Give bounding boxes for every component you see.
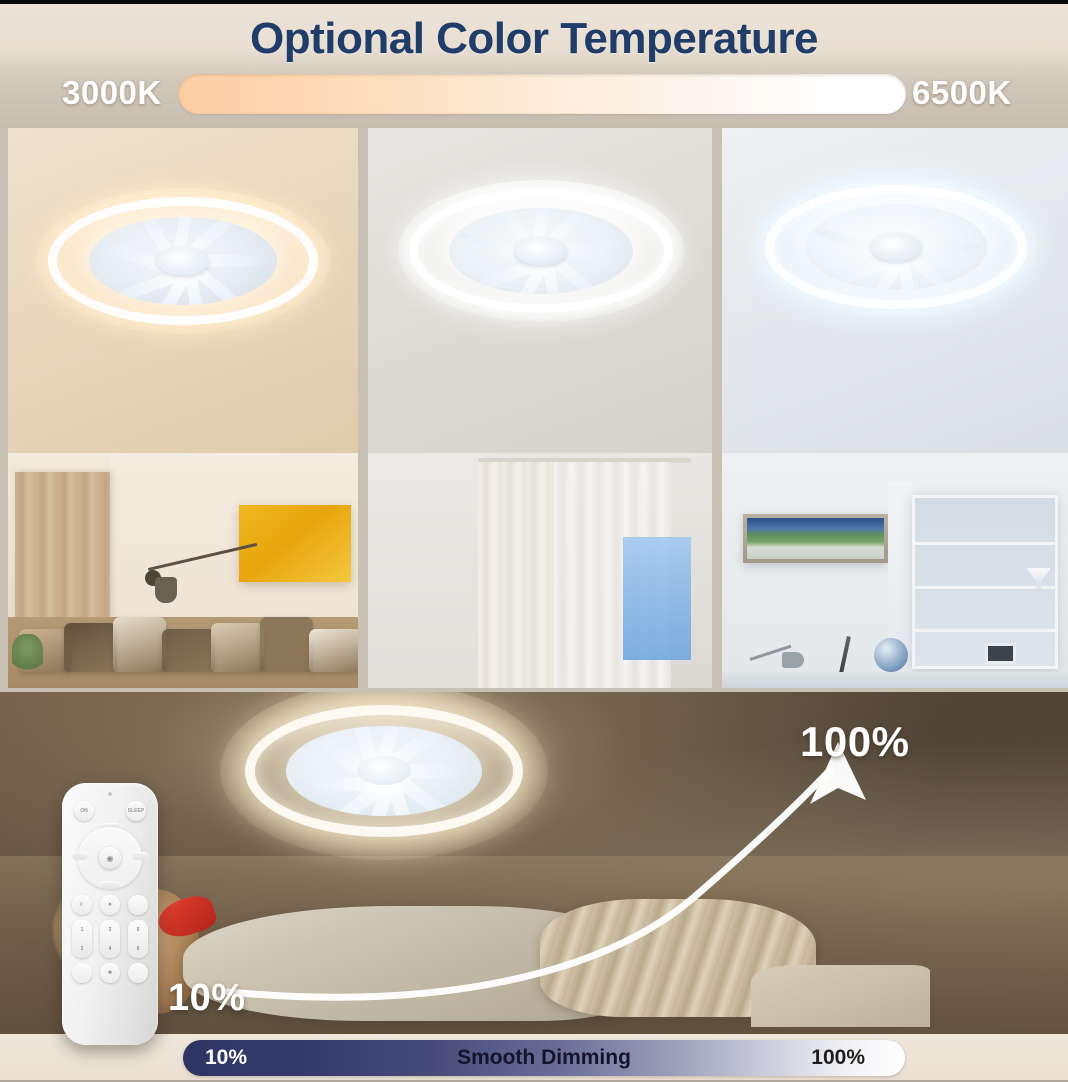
dim-bar-title: Smooth Dimming <box>183 1046 905 1070</box>
remote-off-button[interactable] <box>128 963 148 983</box>
smooth-dimming-bar: 10% Smooth Dimming 100% <box>183 1040 905 1076</box>
product-infographic: Optional Color Temperature 3000K 6500K <box>0 0 1068 1082</box>
remote-number-1: 1 <box>81 927 84 933</box>
remote-sleep-button[interactable]: SLEEP <box>126 801 146 821</box>
dim-low-callout: 10% <box>168 977 246 1020</box>
scene-photo-warm <box>8 128 358 688</box>
remote-timer-button[interactable] <box>72 963 92 983</box>
remote-control[interactable]: ON SLEEP ◉ ☾ ✷ 1 2 3 4 5 6 ✱ <box>62 783 158 1045</box>
scene-photo-cool <box>722 128 1068 688</box>
top-edge-bar <box>0 0 1068 4</box>
remote-fan-button[interactable]: ✷ <box>100 895 120 915</box>
footer-band: 10% Smooth Dimming 100% <box>0 1034 1068 1082</box>
window-daylight <box>623 537 692 659</box>
temp-low-label: 3000K <box>62 74 162 112</box>
header-band: Optional Color Temperature 3000K 6500K <box>0 0 1068 128</box>
remote-power-button[interactable]: ON <box>74 801 94 821</box>
remote-down-button[interactable] <box>100 881 120 889</box>
remote-number-3: 3 <box>109 927 112 933</box>
remote-reverse-button[interactable]: ✱ <box>100 963 120 983</box>
scene-gallery <box>0 128 1068 688</box>
remote-number-4: 4 <box>109 946 112 952</box>
dim-high-callout: 100% <box>800 718 909 766</box>
scene-photo-neutral <box>368 128 712 688</box>
remote-ok-button[interactable]: ◉ <box>99 847 121 869</box>
ceiling-fan-light-neutral <box>398 180 684 322</box>
remote-number-2: 2 <box>81 946 84 952</box>
remote-number-5: 5 <box>137 927 140 933</box>
remote-right-button[interactable] <box>132 852 148 860</box>
remote-number-pill-5-6[interactable]: 5 6 <box>128 920 148 958</box>
remote-number-pill-3-4[interactable]: 3 4 <box>100 920 120 958</box>
color-temperature-gradient-bar <box>178 74 906 114</box>
dim-bar-high-label: 100% <box>811 1046 865 1070</box>
remote-number-6: 6 <box>137 946 140 952</box>
photo-frame <box>985 643 1016 664</box>
remote-number-pill-1-2[interactable]: 1 2 <box>72 920 92 958</box>
remote-left-button[interactable] <box>72 852 88 860</box>
ceiling-fan-light-dimming <box>236 698 532 844</box>
remote-full-button[interactable] <box>128 895 148 915</box>
color-temperature-scale: 3000K 6500K <box>0 70 1068 122</box>
ceiling-fan-light-cool <box>754 176 1038 318</box>
ir-led-icon <box>108 792 112 796</box>
decorative-sphere <box>874 638 908 672</box>
ceiling-fan-light-warm <box>36 188 330 334</box>
wall-art-landscape <box>743 514 888 563</box>
remote-night-button[interactable]: ☾ <box>72 895 92 915</box>
temp-high-label: 6500K <box>912 74 1012 112</box>
page-title: Optional Color Temperature <box>0 14 1068 64</box>
